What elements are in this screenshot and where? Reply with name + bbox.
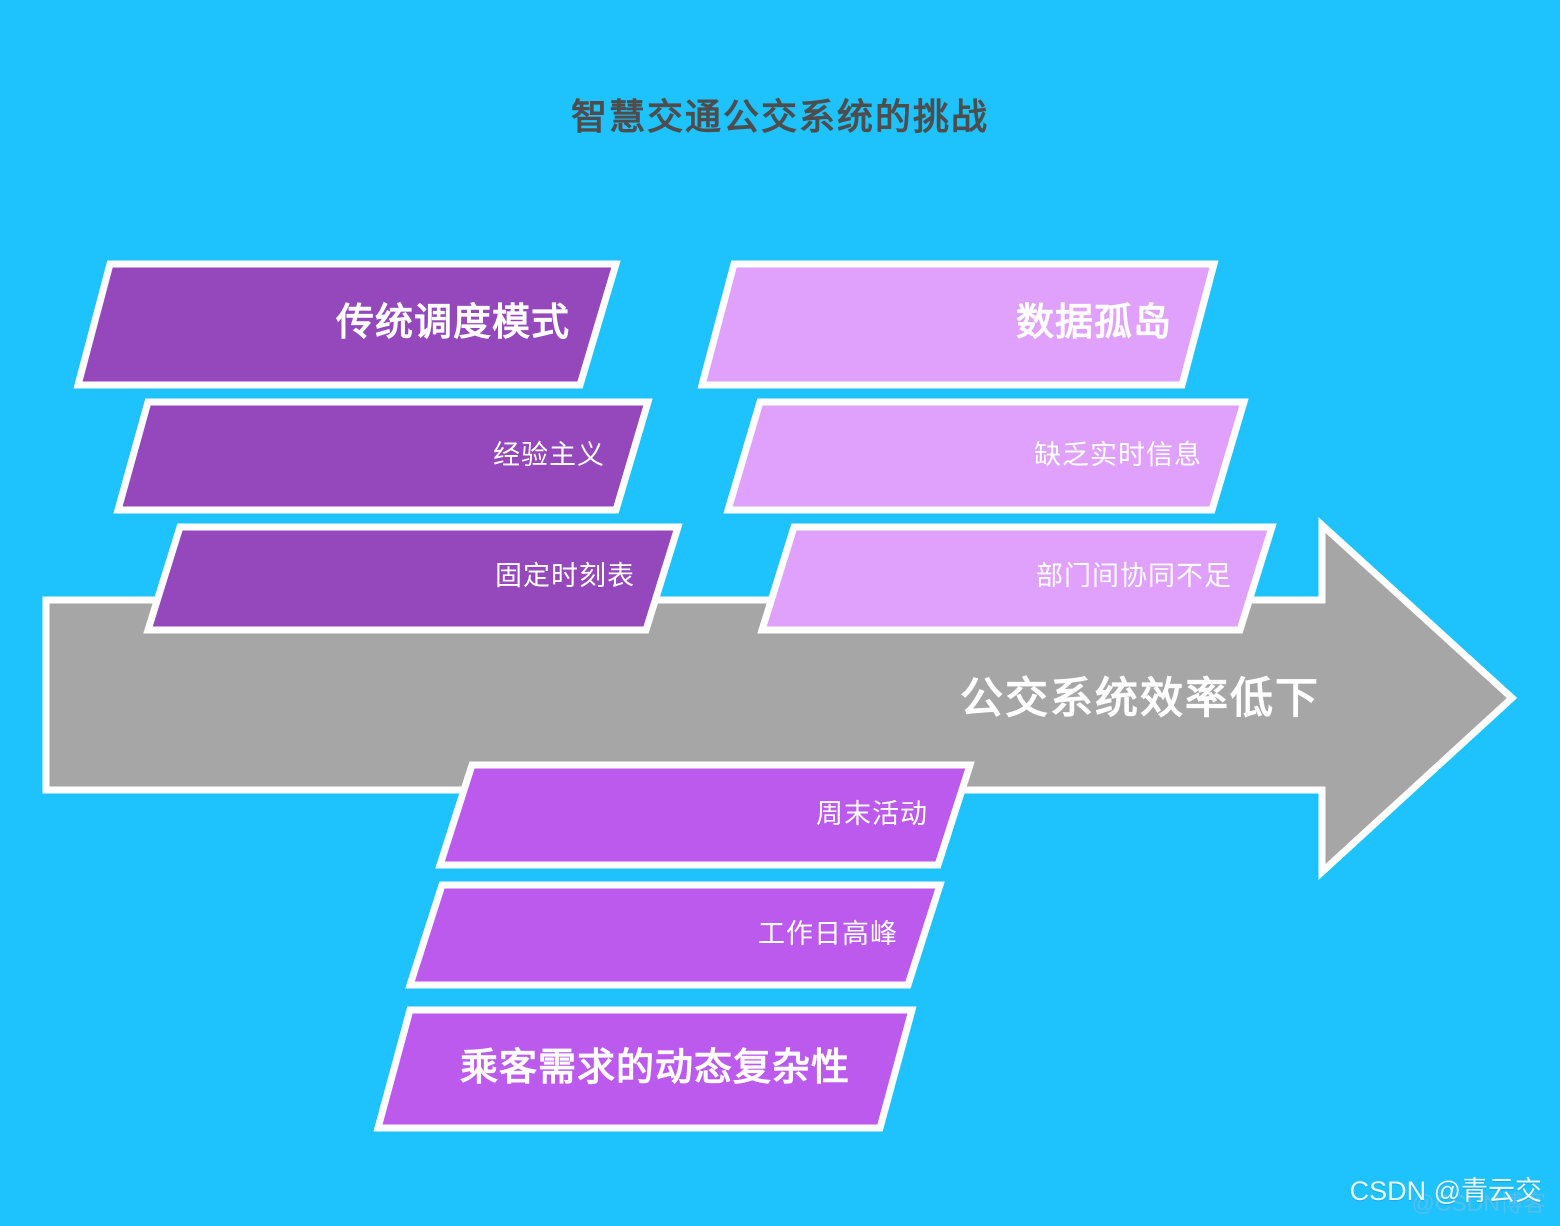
label-weekday-peak: 工作日高峰 [470, 921, 898, 948]
label-poor-dept-collaboration: 部门间协同不足 [820, 563, 1232, 590]
diagram-canvas: 智慧交通公交系统的挑战 传统调度模式 经验主义 固定时刻表 数据孤岛 缺乏实时信… [0, 0, 1560, 1226]
label-data-silo: 数据孤岛 [760, 304, 1172, 342]
label-passenger-demand-complexity: 乘客需求的动态复杂性 [440, 1049, 870, 1087]
label-empiricism: 经验主义 [180, 442, 605, 469]
arrow-label: 公交系统效率低下 [960, 664, 1320, 726]
page-title: 智慧交通公交系统的挑战 [0, 88, 1560, 140]
watermark: @CSDN博客 CSDN @青云交 [1296, 1176, 1546, 1220]
watermark-front-text: CSDN @青云交 [1350, 1169, 1542, 1208]
label-traditional-dispatch: 传统调度模式 [140, 304, 570, 342]
label-weekend-events: 周末活动 [500, 801, 928, 828]
label-lack-realtime-info: 缺乏实时信息 [790, 442, 1202, 469]
label-fixed-timetable: 固定时刻表 [210, 563, 635, 590]
fishbone-diagram [0, 0, 1560, 1226]
